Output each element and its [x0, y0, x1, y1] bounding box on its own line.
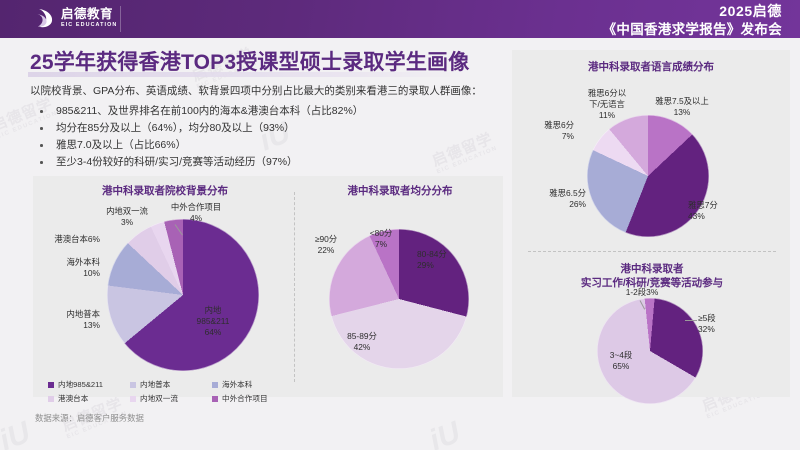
- pie1-label-hmt: 港澳台本6%: [28, 234, 100, 245]
- horizontal-divider: [528, 251, 776, 252]
- pie4-label-1to2: 1-2段3%: [608, 287, 676, 298]
- chart-title-activities-line1: 港中科录取者: [530, 262, 774, 276]
- legend-item[interactable]: 内地985&211: [48, 379, 130, 390]
- pie3-label-below6: 雅思6分以 下/无语言 11%: [576, 88, 638, 121]
- data-source-note: 数据来源：启德客户服务数据: [35, 412, 144, 424]
- pie1-label-overseas: 海外本科 10%: [38, 257, 100, 279]
- pie2-label-90plus: ≥90分 22%: [301, 234, 351, 256]
- pie1-label-mainland985: 内地 985&211 64%: [176, 305, 250, 338]
- page-title: 25学年获得香港TOP3授课型硕士录取学生画像: [30, 46, 469, 76]
- intro-bullet-item: 至少3-4份较好的科研/实习/竞赛等活动经历（97%）: [30, 154, 482, 171]
- chart-title-language: 港中科录取者语言成绩分布: [545, 60, 757, 74]
- legend-label: 中外合作项目: [222, 393, 268, 404]
- logo-cn-text: 启德教育: [61, 8, 117, 21]
- legend-item[interactable]: 内地普本: [130, 379, 212, 390]
- pie-chart-school-background: [107, 219, 259, 371]
- legend-item[interactable]: 内地双一流: [130, 393, 212, 404]
- intro-bullet-list: 985&211、及世界排名在前100内的海本&港澳台本科（占比82%） 均分在8…: [30, 103, 482, 171]
- legend-swatch-icon: [130, 396, 136, 402]
- intro-lead: 以院校背景、GPA分布、英语成绩、软背景四项中分别占比最大的类别来看港三的录取人…: [30, 84, 482, 99]
- pie4-leader-line: [685, 320, 697, 321]
- pie1-label-mainland-common: 内地普本 13%: [38, 309, 100, 331]
- intro-block: 以院校背景、GPA分布、英语成绩、软背景四项中分别占比最大的类别来看港三的录取人…: [30, 84, 482, 171]
- pie2-label-under80: <80分 7%: [355, 228, 407, 250]
- page-header: 启德教育 EIC EDUCATION 2025启德 《中国香港求学报告》发布会: [0, 0, 800, 38]
- legend-label: 内地985&211: [58, 379, 103, 390]
- pie2-label-85-89: 85-89分 42%: [331, 331, 393, 353]
- legend-item[interactable]: 海外本科: [212, 379, 294, 390]
- legend-swatch-icon: [212, 382, 218, 388]
- legend-swatch-icon: [48, 396, 54, 402]
- logo-en-text: EIC EDUCATION: [61, 23, 117, 28]
- pie3-label-ielts75: 雅思7.5及以上 13%: [643, 96, 721, 118]
- pie4-label-3to4: 3~4段 65%: [597, 350, 645, 372]
- legend-label: 港澳台本: [58, 393, 88, 404]
- pie3-label-ielts7: 雅思7分 43%: [688, 200, 750, 222]
- pie1-label-joint-program: 中外合作项目 4%: [157, 202, 235, 224]
- pie3-label-ielts6: 雅思6分 7%: [520, 120, 574, 142]
- legend-swatch-icon: [48, 382, 54, 388]
- eic-logo-icon: [36, 7, 56, 29]
- pie4-label-5plus: ≥5段 32%: [698, 313, 748, 335]
- pie2-label-80-84: 80-84分 29%: [417, 249, 479, 271]
- pie3-label-ielts65: 雅思6.5分 26%: [518, 188, 586, 210]
- header-line2: 《中国香港求学报告》发布会: [603, 21, 782, 39]
- intro-bullet-item: 均分在85分及以上（64%），均分80及以上（93%）: [30, 120, 482, 137]
- legend-label: 内地普本: [140, 379, 170, 390]
- legend-swatch-icon: [130, 382, 136, 388]
- chart-title-school-background: 港中科录取者院校背景分布: [60, 184, 270, 198]
- intro-bullet-item: 985&211、及世界排名在前100内的海本&港澳台本科（占比82%）: [30, 103, 482, 120]
- legend-label: 海外本科: [222, 379, 252, 390]
- legend-swatch-icon: [212, 396, 218, 402]
- header-line1: 2025启德: [603, 3, 782, 21]
- brand-logo: 启德教育 EIC EDUCATION: [36, 7, 117, 29]
- header-title-block: 2025启德 《中国香港求学报告》发布会: [603, 3, 782, 38]
- legend-item[interactable]: 中外合作项目: [212, 393, 294, 404]
- pie1-label-double-first-class: 内地双一流 3%: [93, 206, 161, 228]
- header-divider: [120, 6, 121, 32]
- legend-item[interactable]: 港澳台本: [48, 393, 130, 404]
- vertical-divider: [294, 192, 295, 382]
- legend-label: 内地双一流: [140, 393, 178, 404]
- chart-title-gpa: 港中科录取者均分分布: [320, 184, 480, 198]
- intro-bullet-item: 雅思7.0及以上（占比66%）: [30, 137, 482, 154]
- legend-school-background: 内地985&211 内地普本 海外本科 港澳台本 内地双一流 中外合作项目: [48, 379, 296, 407]
